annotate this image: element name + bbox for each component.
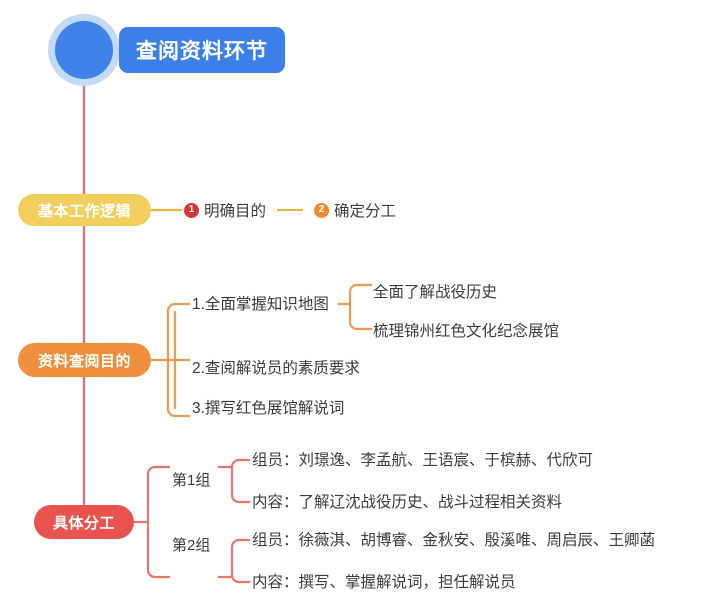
division-group-1-content[interactable]: 内容：了解辽沈战役历史、战斗过程相关资料 bbox=[252, 495, 562, 511]
purpose-item-1-child-2[interactable]: 梳理锦州红色文化纪念展馆 bbox=[373, 324, 559, 340]
purpose-item-1-child-1[interactable]: 全面了解战役历史 bbox=[373, 285, 497, 301]
division-bracket bbox=[148, 467, 155, 577]
purpose-bracket bbox=[168, 304, 175, 416]
purpose-sub-bracket bbox=[350, 285, 357, 329]
division-ticks bbox=[155, 467, 170, 577]
division-group-2-members[interactable]: 组员：徐薇淇、胡博睿、金秋安、殷溪唯、周启辰、王卿菡 bbox=[252, 533, 655, 549]
branch-node-division[interactable]: 具体分工 bbox=[34, 505, 134, 539]
mindmap-canvas: 查阅资料环节 基本工作逻辑 1 明确目的 2 确定分工 资料查阅目的 1.全面掌… bbox=[0, 0, 720, 614]
division-group-2-content[interactable]: 内容：撰写、掌握解说词，担任解说员 bbox=[252, 575, 516, 591]
purpose-item-1[interactable]: 1.全面掌握知识地图 bbox=[192, 297, 329, 313]
group1-ticks bbox=[239, 460, 250, 502]
logic-item-1-label[interactable]: 明确目的 bbox=[204, 199, 266, 221]
root-circle-icon bbox=[55, 21, 113, 79]
logic-items-row: 1 明确目的 2 确定分工 bbox=[184, 199, 396, 221]
group2-bracket bbox=[232, 540, 239, 582]
division-group-1-members[interactable]: 组员：刘璟逸、李孟航、王语宸、于槟赫、代欣可 bbox=[252, 453, 593, 469]
purpose-item-3[interactable]: 3.撰写红色展馆解说词 bbox=[192, 401, 344, 417]
root-title-node[interactable]: 查阅资料环节 bbox=[119, 27, 285, 73]
purpose-item-2[interactable]: 2.查阅解说员的素质要求 bbox=[192, 361, 360, 377]
badge-number-2: 2 bbox=[314, 203, 329, 218]
badge-number-1: 1 bbox=[184, 203, 199, 218]
group1-bracket bbox=[232, 460, 239, 502]
logic-items-dash bbox=[277, 209, 303, 211]
division-group-1-label[interactable]: 第1组 bbox=[172, 473, 210, 488]
division-group-2-label[interactable]: 第2组 bbox=[172, 538, 210, 553]
branch-node-purpose[interactable]: 资料查阅目的 bbox=[18, 343, 151, 377]
group2-ticks bbox=[239, 540, 250, 582]
purpose-sub-ticks bbox=[357, 285, 372, 329]
branch-node-logic[interactable]: 基本工作逻辑 bbox=[18, 194, 151, 226]
logic-item-2-label[interactable]: 确定分工 bbox=[334, 199, 396, 221]
